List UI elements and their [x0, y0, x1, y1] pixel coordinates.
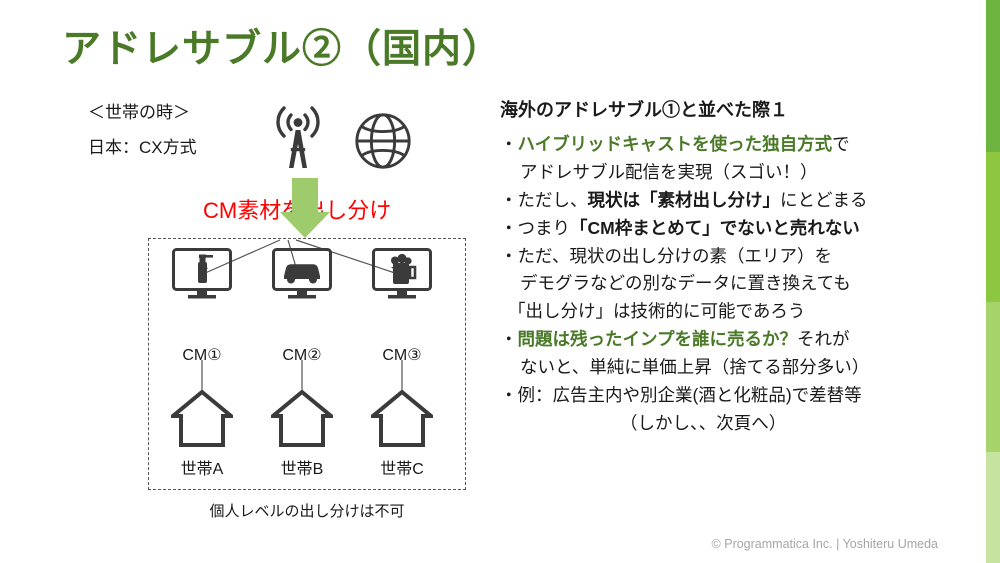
- decor-bar-3: [986, 302, 1000, 452]
- bullet-text: 独自方式: [762, 134, 832, 154]
- bullet-text: ただし、: [518, 190, 588, 210]
- bullet-text: デモグラなどの別なデータに置き換えても: [520, 273, 851, 293]
- bullet-text: ハイブリッドキャスト: [518, 134, 693, 154]
- bullet-text: 「出し分け」は技術的に可能であろう: [508, 301, 805, 321]
- tv-car-icon: [272, 248, 332, 300]
- right-column-heading: 海外のアドレサブル①と並べた際１: [500, 96, 788, 122]
- decor-bar-1: [986, 0, 1000, 152]
- list-item: 「出し分け」は技術的に可能であろう: [500, 299, 970, 325]
- page-number: 5: [963, 529, 976, 557]
- bullet-text: 「CM枠まとめて」でないと売れない: [570, 218, 860, 238]
- footer-credit: © Programmatica Inc. | Yoshiteru Umeda: [712, 537, 938, 551]
- bullet-text: ただ、現状の出し分けの素（エリア）を: [518, 246, 832, 266]
- bullet-text: ないと、単純に単価上昇（捨てる部分多い）: [520, 357, 869, 377]
- household-caption-1: 世帯A: [167, 455, 237, 479]
- bullet-text: にとどまる: [780, 190, 868, 210]
- list-item: ・例：広告主内や別企業(酒と化粧品)で差替等: [500, 383, 970, 409]
- bullet-text: アドレサブル配信を実現（スゴい！）: [520, 162, 818, 182]
- cm-item-3: [372, 248, 432, 305]
- decor-bar-2: [986, 152, 1000, 302]
- broadcast-antenna-icon: [262, 100, 334, 172]
- household-caption-2: 世帯B: [267, 455, 337, 479]
- tv-beer-mug-icon: [372, 248, 432, 300]
- list-item: アドレサブル配信を実現（スゴい！）: [500, 160, 970, 186]
- globe-icon: [352, 110, 414, 172]
- house-icon: [171, 390, 233, 448]
- list-item: ・ただし、現状は「素材出し分け」にとどまる: [500, 188, 970, 214]
- decor-bar-4: [986, 452, 1000, 563]
- bullet-text: 現状は「素材出し分け」: [588, 190, 781, 210]
- label-household-era: ＜世帯の時＞: [88, 98, 190, 123]
- house-icon: [371, 390, 433, 448]
- cm-house-links: [148, 360, 466, 394]
- list-item: ・ハイブリッドキャストを使った独自方式で: [500, 132, 970, 158]
- bullet-text: （しかし、、次頁へ）: [620, 413, 786, 433]
- cm-item-2: [272, 248, 332, 305]
- bullet-text: つまり: [518, 218, 571, 238]
- list-item: ・ただ、現状の出し分けの素（エリア）を: [500, 244, 970, 270]
- note-individual-level: 個人レベルの出し分けは不可: [148, 500, 466, 521]
- list-item: ・問題は残ったインプを誰に売るか？それが: [500, 327, 970, 353]
- list-item: ないと、単純に単価上昇（捨てる部分多い）: [500, 355, 970, 381]
- page-title: アドレサブル②（国内）: [62, 18, 502, 74]
- green-down-arrow-icon: [278, 178, 332, 240]
- list-item: （しかし、、次頁へ）: [500, 411, 970, 437]
- household-caption-3: 世帯C: [367, 455, 437, 479]
- slide-root: アドレサブル②（国内） ＜世帯の時＞ 日本：CX方式 CM素材を出し分け: [0, 0, 1000, 563]
- house-icon: [271, 390, 333, 448]
- label-japan-method: 日本：CX方式: [88, 133, 197, 158]
- cm-item-1: [172, 248, 232, 305]
- bullet-text: を使った: [692, 134, 762, 154]
- tv-spray-bottle-icon: [172, 248, 232, 300]
- list-item: デモグラなどの別なデータに置き換えても: [500, 271, 970, 297]
- list-item: ・つまり「CM枠まとめて」でないと売れない: [500, 216, 970, 242]
- bullet-text: 問題は残ったインプを誰に売るか？: [518, 329, 797, 349]
- bullet-text: それが: [797, 329, 850, 349]
- bullet-text: で: [832, 134, 850, 154]
- bullet-text: 例：広告主内や別企業(酒と化粧品)で差替等: [518, 385, 862, 405]
- bullet-list: ・ハイブリッドキャストを使った独自方式で アドレサブル配信を実現（スゴい！） ・…: [500, 132, 970, 439]
